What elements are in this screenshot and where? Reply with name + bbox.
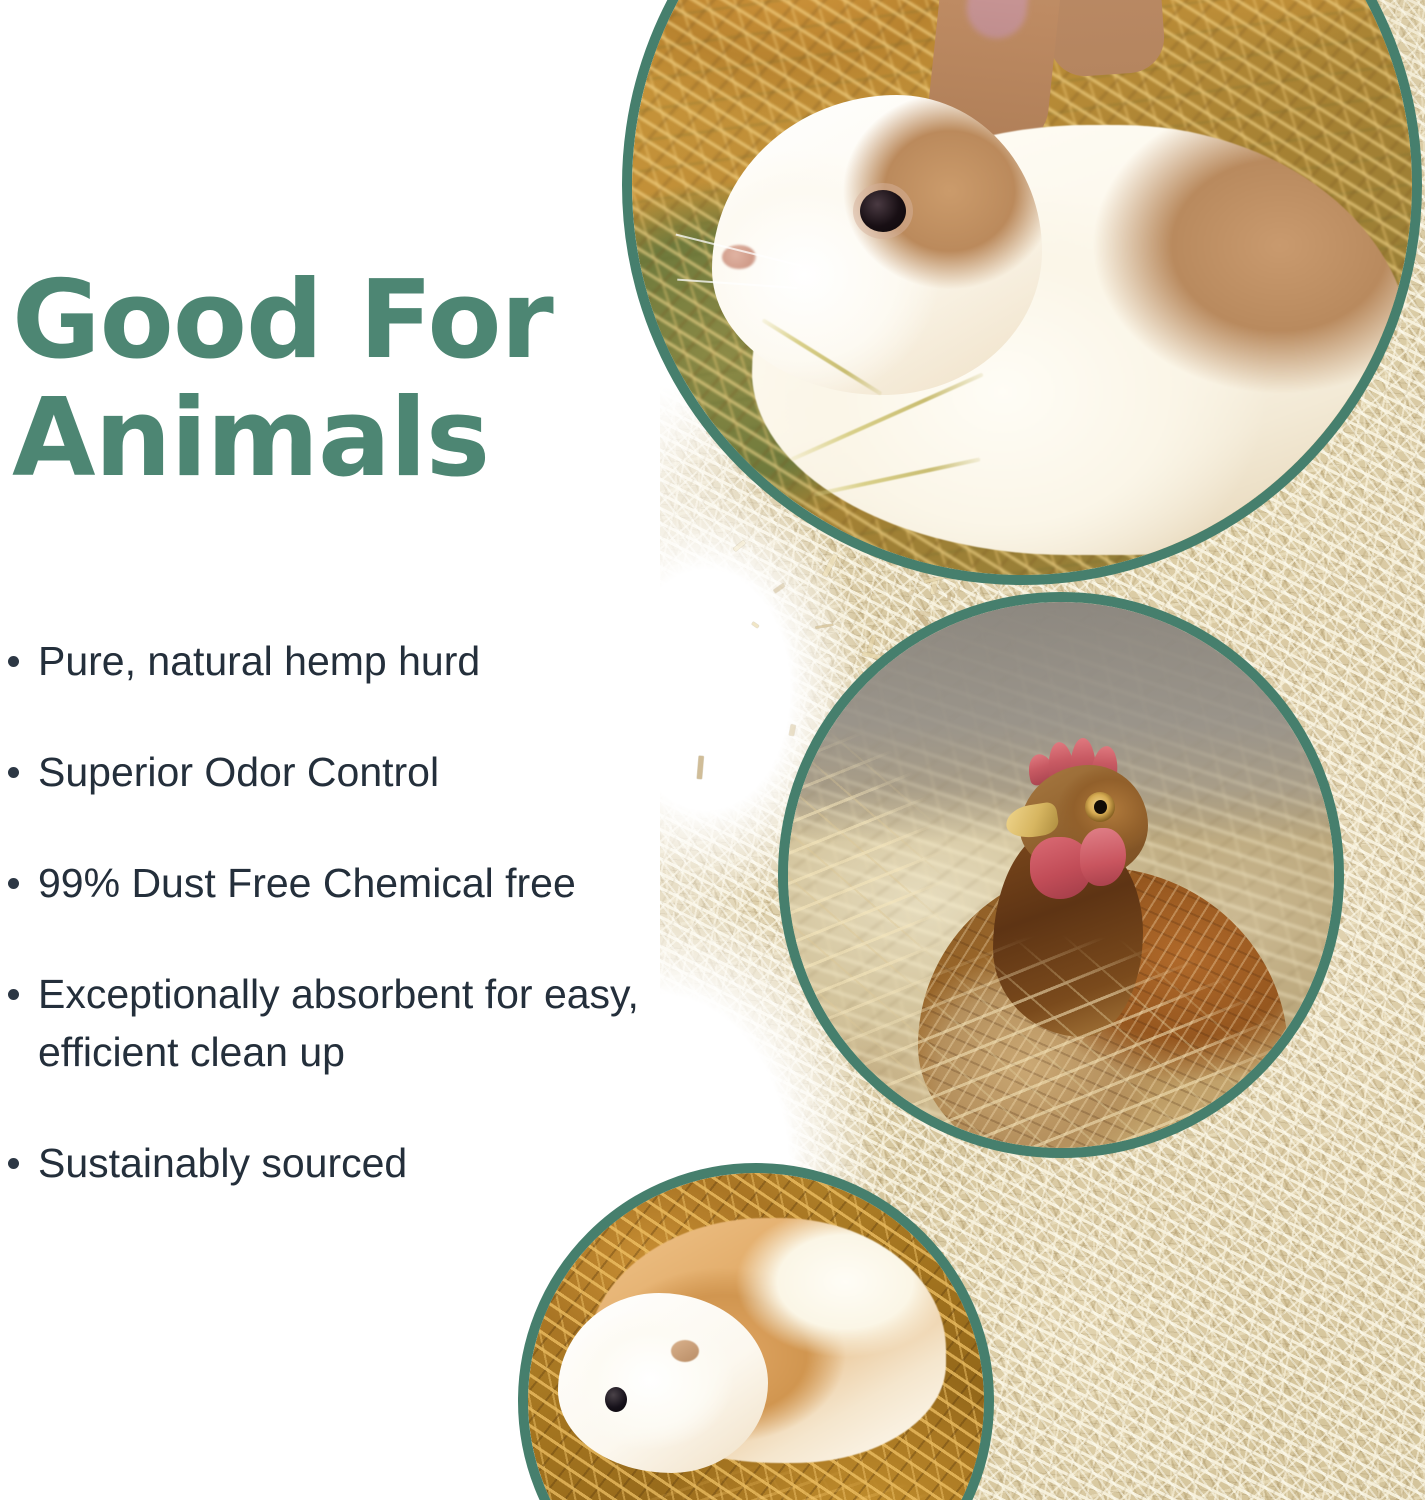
photo-guinea-pig [528, 1173, 984, 1500]
product-feature-graphic: Good For Animals Pure, natural hemp hurd… [0, 0, 1425, 1500]
page-title: Good For Animals [12, 262, 712, 498]
feature-text: Sustainably sourced [38, 1134, 407, 1192]
bullet-dot-icon [8, 656, 19, 667]
hen-foreground-straw [788, 602, 1334, 1148]
feature-text: 99% Dust Free Chemical free [38, 854, 576, 912]
photo-circle-guinea-pig [518, 1163, 994, 1500]
feature-text: Pure, natural hemp hurd [38, 632, 480, 690]
photo-rabbit [632, 0, 1412, 575]
photo-circle-chicken [778, 592, 1344, 1158]
feature-list: Pure, natural hemp hurd Superior Odor Co… [8, 632, 720, 1192]
list-item: Sustainably sourced [8, 1134, 720, 1192]
feature-text: Exceptionally absorbent for easy, effici… [38, 965, 720, 1081]
bullet-dot-icon [8, 989, 19, 1000]
bullet-dot-icon [8, 878, 19, 889]
photo-circle-rabbit [622, 0, 1422, 585]
rabbit-eye [860, 190, 906, 232]
list-item: 99% Dust Free Chemical free [8, 854, 720, 912]
photo-chicken [788, 602, 1334, 1148]
feature-text: Superior Odor Control [38, 743, 439, 801]
bullet-dot-icon [8, 767, 19, 778]
list-item: Exceptionally absorbent for easy, effici… [8, 965, 720, 1081]
bullet-dot-icon [8, 1158, 19, 1169]
list-item: Pure, natural hemp hurd [8, 632, 720, 690]
list-item: Superior Odor Control [8, 743, 720, 801]
